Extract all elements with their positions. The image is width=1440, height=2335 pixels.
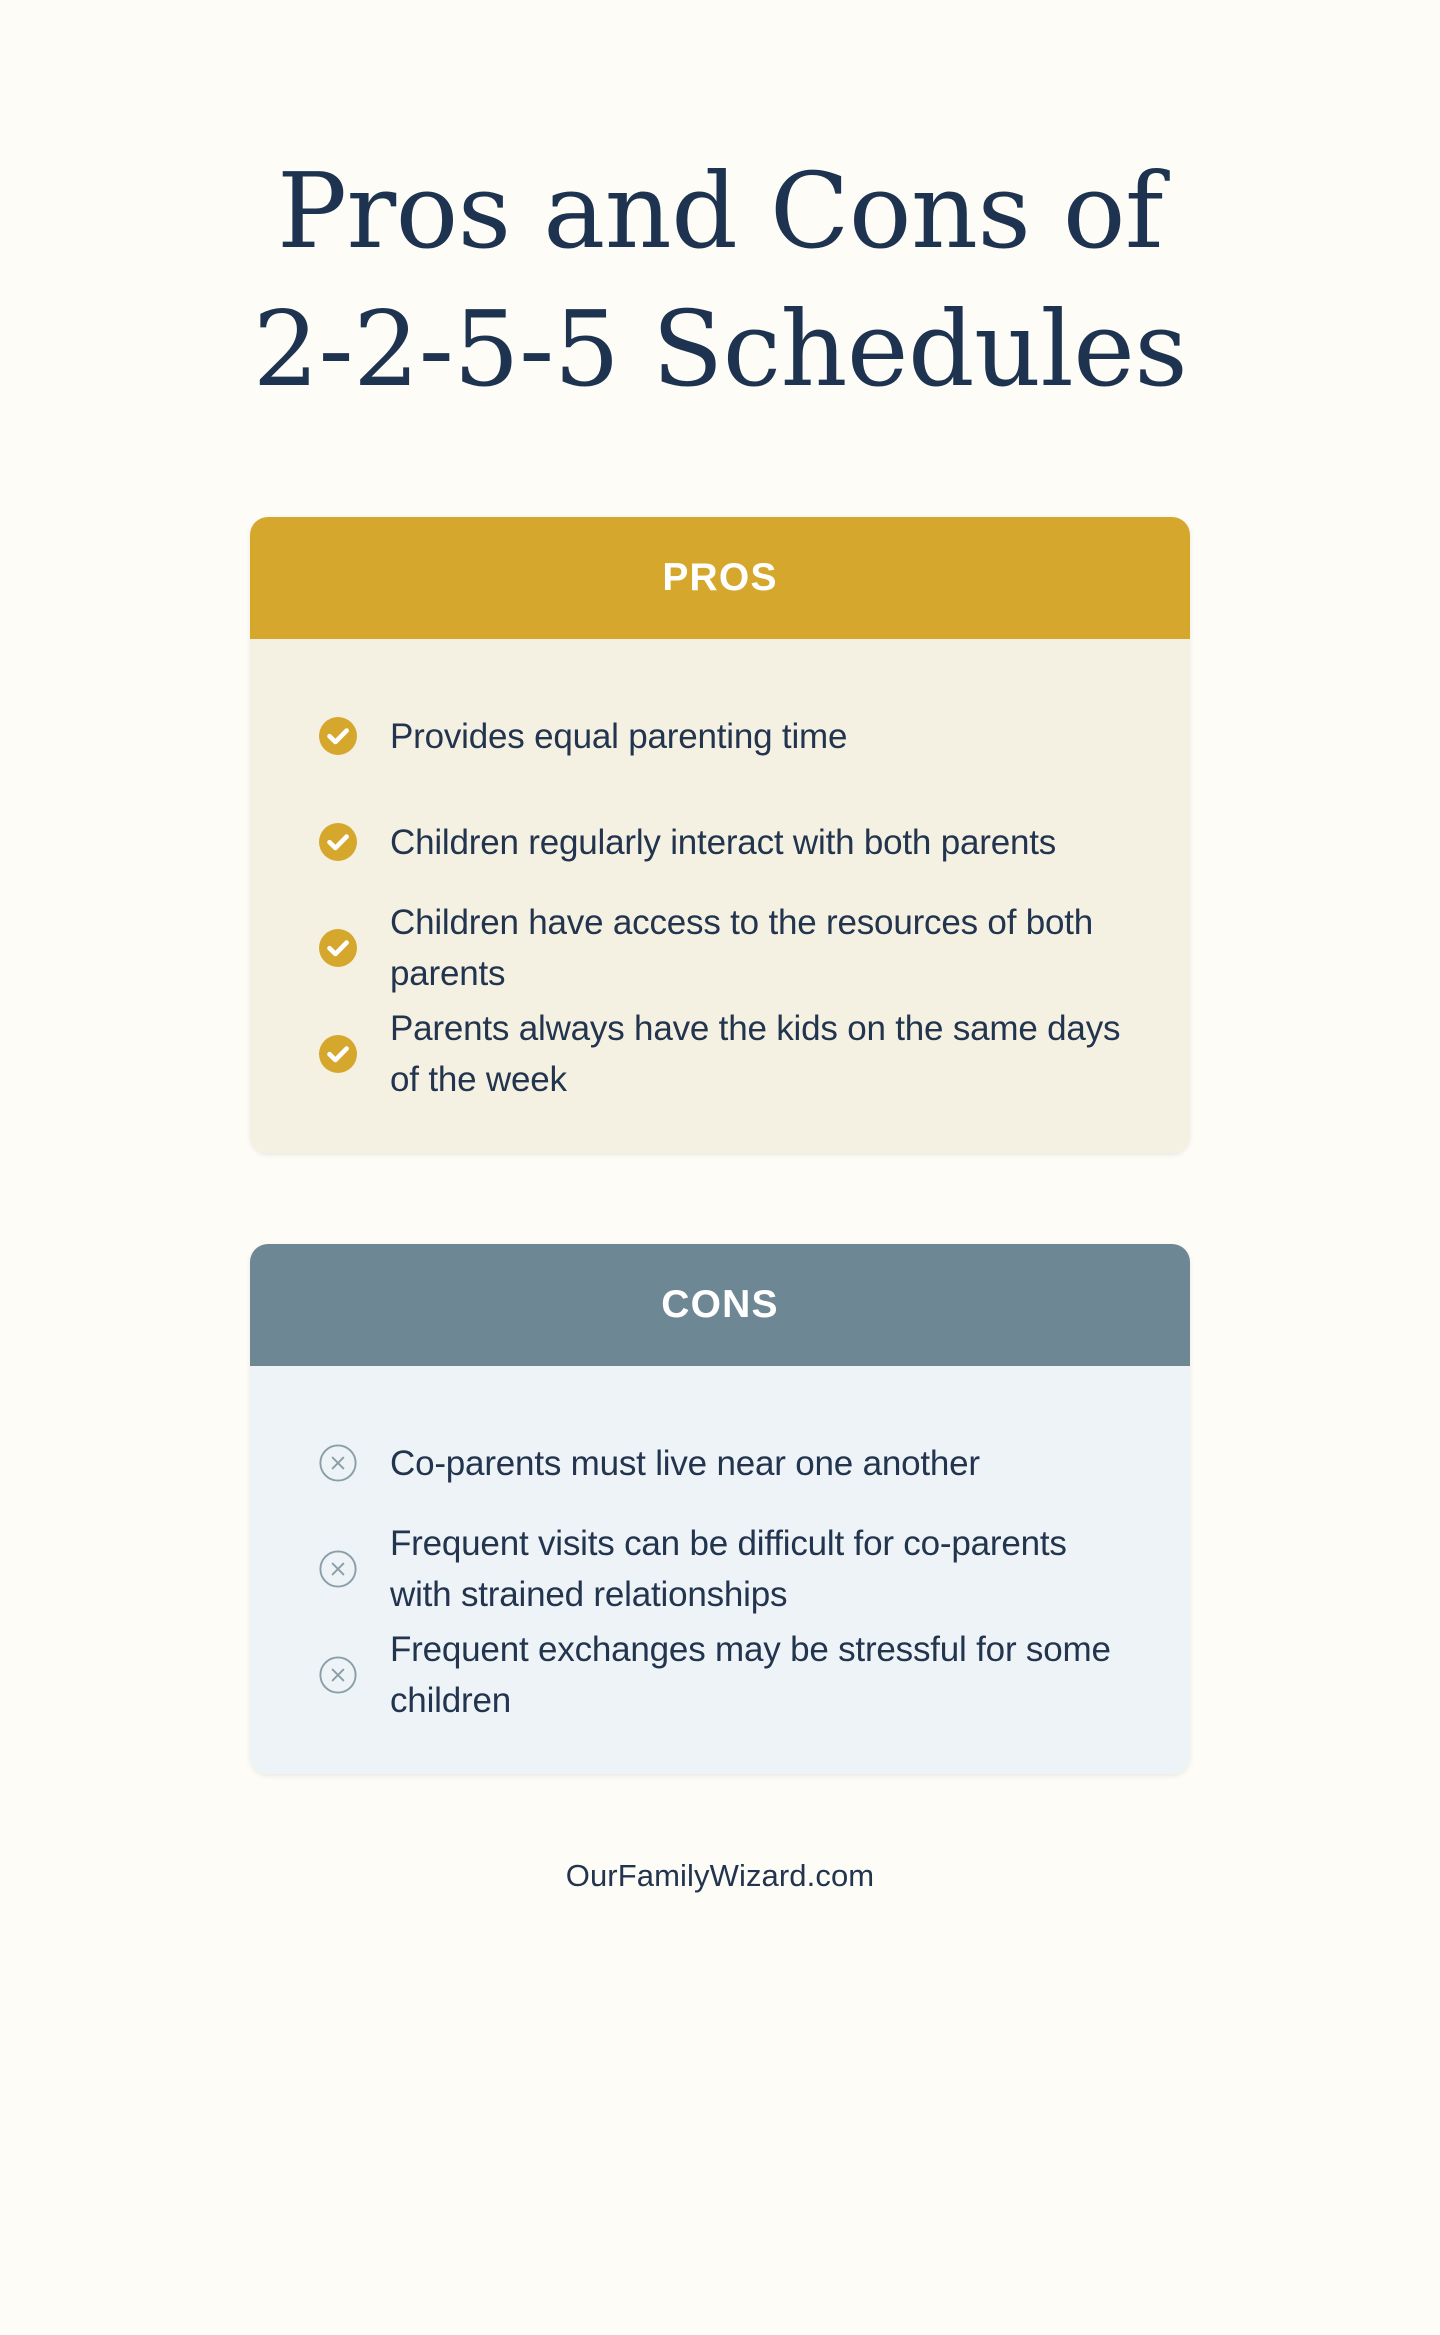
list-item: Co-parents must live near one another [250, 1410, 1190, 1516]
list-item-label: Children have access to the resources of… [390, 897, 1126, 999]
x-circle-icon [318, 1443, 358, 1483]
page-title-line-1: Pros and Cons of [220, 142, 1220, 280]
check-circle-icon [318, 928, 358, 968]
pros-list: Provides equal parenting time Children r… [250, 683, 1190, 1107]
list-item: Children regularly interact with both pa… [250, 789, 1190, 895]
list-item: Frequent exchanges may be stressful for … [250, 1622, 1190, 1728]
list-item-label: Co-parents must live near one another [390, 1438, 980, 1489]
cons-header-label: CONS [661, 1283, 778, 1327]
cons-card-header: CONS [250, 1244, 1190, 1366]
list-item-label: Provides equal parenting time [390, 711, 847, 762]
list-item: Children have access to the resources of… [250, 895, 1190, 1001]
list-item: Provides equal parenting time [250, 683, 1190, 789]
list-item-label: Children regularly interact with both pa… [390, 817, 1056, 868]
list-item-label: Frequent visits can be difficult for co-… [390, 1518, 1126, 1620]
cons-card-body: Co-parents must live near one another Fr… [250, 1366, 1190, 1774]
footer-website-label: OurFamilyWizard.com [566, 1858, 874, 1894]
list-item: Frequent visits can be difficult for co-… [250, 1516, 1190, 1622]
list-item-label: Frequent exchanges may be stressful for … [390, 1624, 1126, 1726]
pros-card-body: Provides equal parenting time Children r… [250, 639, 1190, 1153]
pros-card-header: PROS [250, 517, 1190, 639]
page-title: Pros and Cons of 2-2-5-5 Schedules [220, 142, 1220, 418]
check-circle-icon [318, 716, 358, 756]
pros-card: PROS Provides equal parenting time [250, 517, 1190, 1153]
pros-header-label: PROS [662, 556, 777, 600]
check-circle-icon [318, 822, 358, 862]
cons-list: Co-parents must live near one another Fr… [250, 1410, 1190, 1728]
page-title-line-2: 2-2-5-5 Schedules [220, 280, 1220, 418]
cons-card: CONS Co-parents must live near one anoth… [250, 1244, 1190, 1774]
x-circle-icon [318, 1549, 358, 1589]
check-circle-icon [318, 1034, 358, 1074]
x-circle-icon [318, 1655, 358, 1695]
infographic-root: Pros and Cons of 2-2-5-5 Schedules PROS … [0, 0, 1440, 2335]
list-item: Parents always have the kids on the same… [250, 1001, 1190, 1107]
list-item-label: Parents always have the kids on the same… [390, 1003, 1126, 1105]
